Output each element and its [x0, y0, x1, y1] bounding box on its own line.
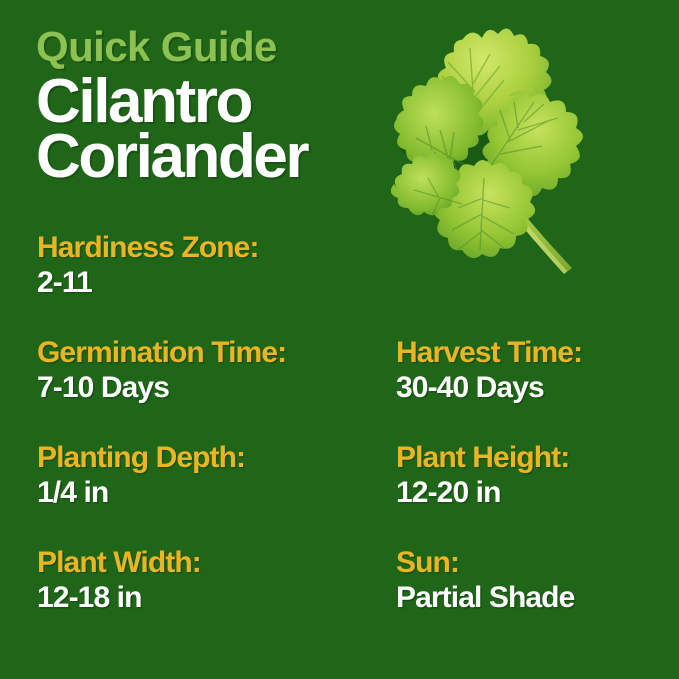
- spec-value: 12-18 in: [37, 582, 387, 614]
- spec-label: Planting Depth:: [37, 442, 387, 474]
- spec-row: Germination Time: 7-10 Days Harvest Time…: [0, 337, 679, 442]
- spec-planting-depth: Planting Depth: 1/4 in: [37, 442, 387, 509]
- spec-row: Planting Depth: 1/4 in Plant Height: 12-…: [0, 442, 679, 547]
- spec-row: Hardiness Zone: 2-11: [0, 232, 679, 337]
- spec-value: 7-10 Days: [37, 372, 387, 404]
- spec-grid: Hardiness Zone: 2-11 Germination Time: 7…: [0, 232, 679, 652]
- spec-harvest-time: Harvest Time: 30-40 Days: [396, 337, 666, 404]
- spec-value: 1/4 in: [37, 477, 387, 509]
- header: Quick Guide Cilantro Coriander: [36, 26, 376, 185]
- page-title-secondary: Coriander: [36, 128, 376, 185]
- spec-label: Hardiness Zone:: [37, 232, 387, 264]
- spec-sun: Sun: Partial Shade: [396, 547, 666, 614]
- spec-value: 30-40 Days: [396, 372, 666, 404]
- spec-label: Germination Time:: [37, 337, 387, 369]
- eyebrow-quick-guide: Quick Guide: [36, 26, 376, 67]
- spec-label: Plant Width:: [37, 547, 387, 579]
- spec-plant-height: Plant Height: 12-20 in: [396, 442, 666, 509]
- spec-value: 2-11: [37, 267, 387, 299]
- spec-plant-width: Plant Width: 12-18 in: [37, 547, 387, 614]
- spec-hardiness-zone: Hardiness Zone: 2-11: [37, 232, 387, 299]
- spec-value: 12-20 in: [396, 477, 666, 509]
- spec-label: Plant Height:: [396, 442, 666, 474]
- spec-label: Sun:: [396, 547, 666, 579]
- spec-label: Harvest Time:: [396, 337, 666, 369]
- spec-germination-time: Germination Time: 7-10 Days: [37, 337, 387, 404]
- quick-guide-card: Quick Guide Cilantro Coriander: [0, 0, 679, 679]
- spec-value: Partial Shade: [396, 582, 666, 614]
- spec-row: Plant Width: 12-18 in Sun: Partial Shade: [0, 547, 679, 652]
